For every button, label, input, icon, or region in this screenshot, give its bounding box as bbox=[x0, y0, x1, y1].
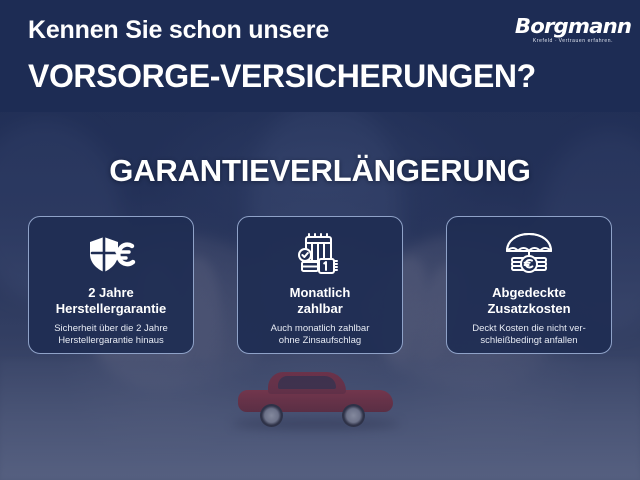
feature-card-list: 2 Jahre Herstellergarantie Sicherheit üb… bbox=[28, 216, 612, 354]
umbrella-coins-euro-icon bbox=[455, 229, 603, 281]
card-subtitle: Auch monatlich zahlbar ohne Zinsaufschla… bbox=[246, 323, 394, 348]
logo-tagline-separator: · bbox=[555, 38, 557, 44]
card-title-line-2: zahlbar bbox=[246, 301, 394, 317]
shield-euro-icon bbox=[37, 229, 185, 281]
insurance-promo-banner: Kennen Sie schon unsere VORSORGE-VERSICH… bbox=[0, 0, 640, 480]
card-subtitle-line-1: Deckt Kosten die nicht ver- bbox=[455, 323, 603, 336]
card-title-line-2: Herstellergarantie bbox=[37, 301, 185, 317]
page-title: GARANTIEVERLÄNGERUNG bbox=[0, 153, 640, 189]
feature-card-extra-costs[interactable]: Abgedeckte Zusatzkosten Deckt Kosten die… bbox=[446, 216, 612, 354]
card-subtitle-line-2: schleißbedingt anfallen bbox=[455, 335, 603, 348]
card-subtitle-line-2: Herstellergarantie hinaus bbox=[37, 335, 185, 348]
headline-question-line: Kennen Sie schon unsere bbox=[28, 16, 329, 45]
feature-card-warranty[interactable]: 2 Jahre Herstellergarantie Sicherheit üb… bbox=[28, 216, 194, 354]
card-subtitle: Sicherheit über die 2 Jahre Herstellerga… bbox=[37, 323, 185, 348]
card-subtitle: Deckt Kosten die nicht ver- schleißbedin… bbox=[455, 323, 603, 348]
card-title-line-2: Zusatzkosten bbox=[455, 301, 603, 317]
card-title: 2 Jahre Herstellergarantie bbox=[37, 285, 185, 317]
logo-tagline-city: Krefeld bbox=[533, 38, 553, 44]
feature-card-monthly-payment[interactable]: Monatlich zahlbar Auch monatlich zahlbar… bbox=[237, 216, 403, 354]
card-subtitle-line-1: Auch monatlich zahlbar bbox=[246, 323, 394, 336]
card-subtitle-line-1: Sicherheit über die 2 Jahre bbox=[37, 323, 185, 336]
card-title-line-1: Abgedeckte bbox=[455, 285, 603, 301]
card-title-line-1: 2 Jahre bbox=[37, 285, 185, 301]
card-subtitle-line-2: ohne Zinsaufschlag bbox=[246, 335, 394, 348]
headline-product-line: VORSORGE-VERSICHERUNGEN? bbox=[28, 58, 536, 95]
logo-tagline-slogan: Vertrauen erfahren. bbox=[559, 38, 613, 44]
card-title-line-1: Monatlich bbox=[246, 285, 394, 301]
brand-logo[interactable]: Borgmann Krefeld · Vertrauen erfahren. bbox=[518, 16, 628, 44]
calendar-coins-icon bbox=[246, 229, 394, 281]
logo-tagline: Krefeld · Vertrauen erfahren. bbox=[518, 38, 628, 44]
logo-wordmark: Borgmann bbox=[515, 16, 632, 36]
card-title: Abgedeckte Zusatzkosten bbox=[455, 285, 603, 317]
card-title: Monatlich zahlbar bbox=[246, 285, 394, 317]
